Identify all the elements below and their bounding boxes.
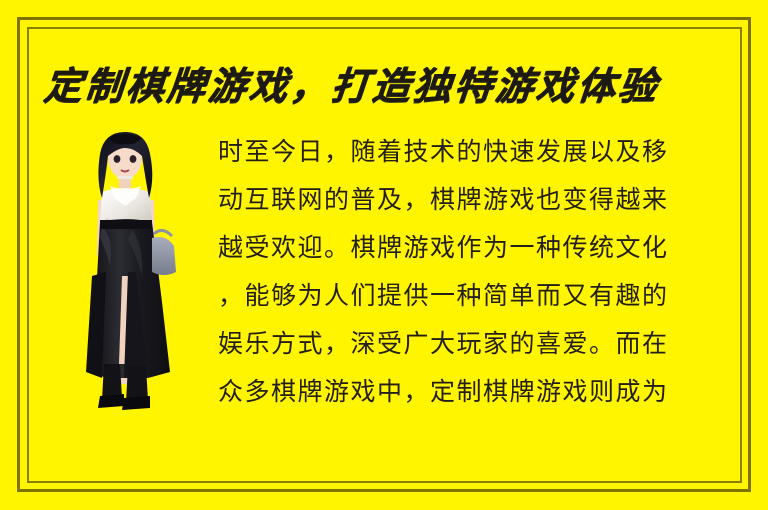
body-line: 娱乐方式，深受广大玩家的喜爱。而在 [218, 320, 746, 368]
woman-figure-icon [62, 126, 188, 418]
body-line: 越受欢迎。棋牌游戏作为一种传统文化 [218, 224, 746, 272]
page-title: 定制棋牌游戏，打造独特游戏体验 [42, 58, 707, 114]
woman-fashion-figure-illustration [62, 126, 188, 418]
body-line: 众多棋牌游戏中，定制棋牌游戏则成为 [218, 368, 746, 416]
body-line: 时至今日，随着技术的快速发展以及移 [218, 128, 746, 176]
body-line: 动互联网的普及，棋牌游戏也变得越来 [218, 176, 746, 224]
body-line: ，能够为人们提供一种简单而又有趣的 [218, 272, 746, 320]
body-copy: 时至今日，随着技术的快速发展以及移 动互联网的普及，棋牌游戏也变得越来 越受欢迎… [218, 128, 746, 416]
poster-canvas: 定制棋牌游戏，打造独特游戏体验 [0, 0, 768, 510]
